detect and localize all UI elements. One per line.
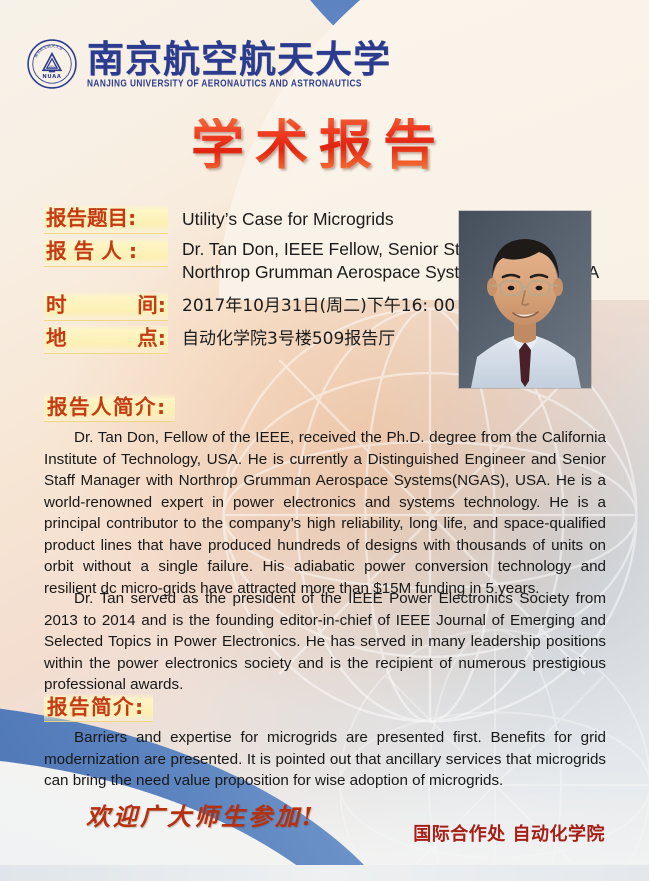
svg-text:NUAA: NUAA (42, 74, 61, 80)
poster-title-wrap: 学术报告 (0, 118, 649, 174)
bio-paragraph-1: Dr. Tan Don, Fellow of the IEEE, receive… (44, 427, 606, 599)
nuaa-crest-icon: 1952 NUAA 南京航空航天大学 (26, 38, 78, 90)
speaker-label: 报 告 人 : (44, 236, 168, 267)
time-label-char-1: 时 (46, 290, 67, 320)
abstract-paragraph-1: Barriers and expertise for microgrids ar… (44, 727, 606, 792)
abstract-heading: 报告简介: (44, 692, 153, 722)
university-name-cn: 南京航空航天大学 (87, 41, 391, 78)
place-label-char-2: 点: (137, 323, 166, 353)
welcome-message: 欢迎广大师生参加! (86, 797, 316, 832)
speaker-portrait (459, 211, 591, 388)
university-header: 1952 NUAA 南京航空航天大学 南京航空航天大学 NANJING UNIV… (26, 38, 391, 90)
organizing-departments: 国际合作处 自动化学院 (413, 820, 605, 846)
place-label: 地 点: (44, 323, 168, 354)
poster-root: 1952 NUAA 南京航空航天大学 南京航空航天大学 NANJING UNIV… (0, 0, 649, 881)
topic-label: 报告题目: (44, 203, 168, 234)
time-label: 时 间: (44, 290, 168, 321)
svg-text:1952: 1952 (48, 65, 55, 69)
bio-paragraph-2: Dr. Tan served as the president of the I… (44, 588, 606, 696)
bottom-edge-bar (0, 865, 649, 881)
university-name-en: NANJING UNIVERSITY OF AERONAUTICS AND AS… (87, 78, 391, 88)
time-label-char-2: 间: (137, 290, 166, 320)
bio-heading: 报告人简介: (44, 392, 175, 422)
speaker-portrait-illustration (459, 211, 591, 388)
place-label-char-1: 地 (46, 323, 67, 353)
poster-title: 学术报告 (191, 118, 458, 174)
